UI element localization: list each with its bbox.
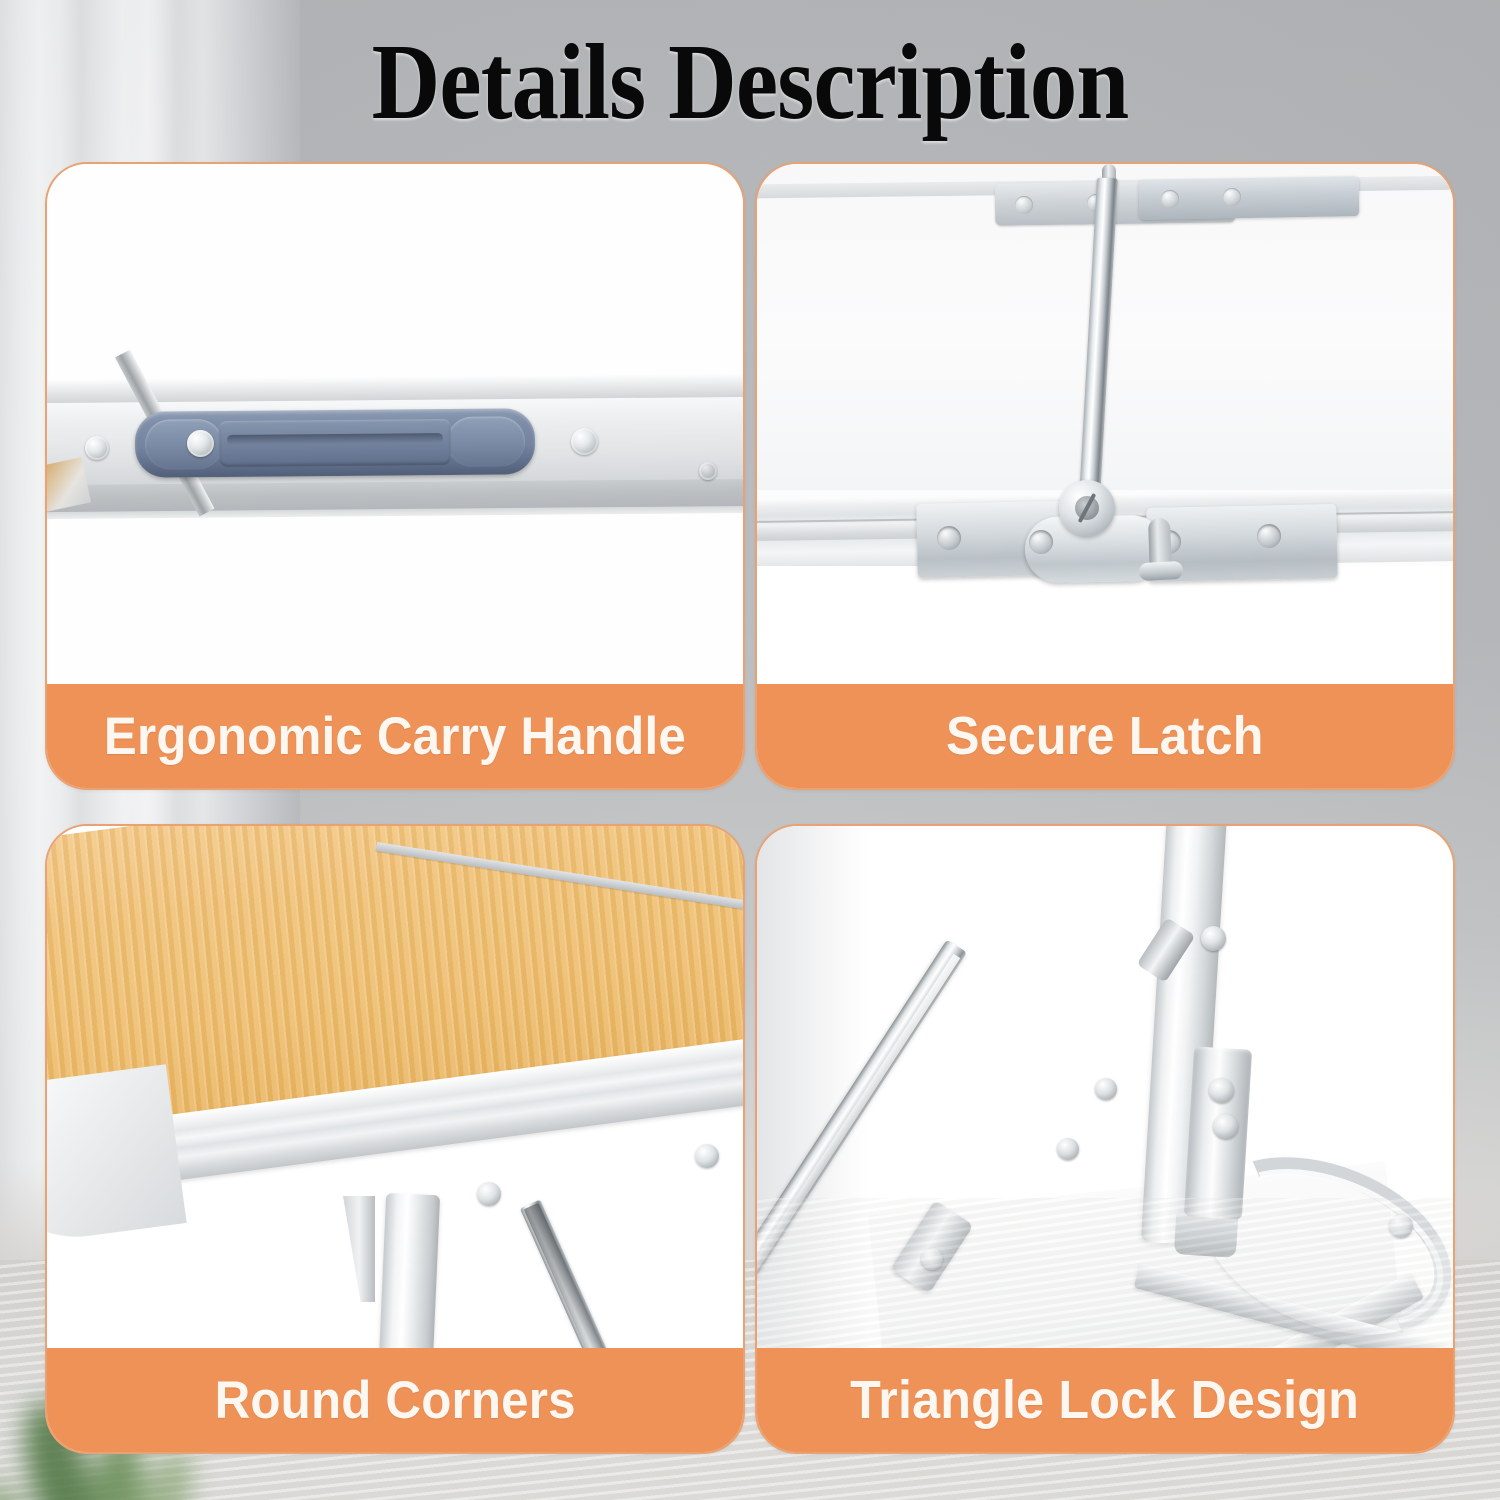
hinge-screw-hole (1015, 196, 1033, 214)
card-caption-label: Round Corners (214, 1370, 575, 1431)
latch-pivot-screw (1059, 480, 1115, 536)
card-caption-label: Secure Latch (946, 705, 1264, 767)
carry-handle-end-right (447, 416, 525, 467)
latch-bolt-hole (937, 526, 961, 550)
latch-bolt-hole (1029, 530, 1053, 554)
latch-bolt-hole (1257, 524, 1281, 548)
feature-card-triangle-lock-design: Triangle Lock Design (755, 824, 1455, 1454)
carry-handle-slot (227, 433, 443, 445)
photo-surface-texture (757, 1198, 1453, 1348)
photo-carry-handle (47, 164, 743, 684)
card-caption-bar: Round Corners (47, 1348, 743, 1452)
brace-screw (1095, 1078, 1117, 1100)
telescoping-leg (368, 1193, 440, 1348)
leg-bracket-screw (1213, 1114, 1238, 1139)
hinge-screw-hole (1223, 188, 1241, 206)
latch-pin-head (1139, 561, 1184, 581)
edge-screw (477, 1182, 501, 1206)
leg-bracket-screw (1201, 926, 1226, 951)
hinge-screw-hole (1161, 190, 1179, 208)
photo-secure-latch (757, 164, 1453, 684)
chrome-folding-brace (520, 1200, 711, 1348)
mounting-screw (571, 428, 598, 455)
mounting-screw (187, 430, 214, 457)
photo-white-area (757, 566, 1453, 684)
feature-card-grid: Ergonomic Carry Handle (45, 162, 1455, 1454)
photo-round-corners (47, 826, 743, 1348)
rounded-corner (47, 1064, 187, 1247)
photo-triangle-lock (757, 826, 1453, 1348)
card-caption-label: Triangle Lock Design (851, 1369, 1360, 1431)
card-caption-bar: Ergonomic Carry Handle (47, 684, 743, 788)
leg-gusset (343, 1196, 375, 1302)
card-caption-bar: Triangle Lock Design (757, 1348, 1453, 1452)
brace-shadow (524, 1203, 604, 1348)
feature-card-round-corners: Round Corners (45, 824, 745, 1454)
card-caption-bar: Secure Latch (757, 684, 1453, 788)
card-caption-label: Ergonomic Carry Handle (104, 706, 686, 767)
brace-screw (1057, 1138, 1079, 1160)
feature-card-secure-latch: Secure Latch (755, 162, 1455, 790)
mounting-screw (85, 436, 109, 460)
edge-screw (695, 1144, 719, 1168)
mounting-screw (699, 462, 717, 480)
feature-card-ergonomic-carry-handle: Ergonomic Carry Handle (45, 162, 745, 790)
leg-bracket-screw (1209, 1078, 1234, 1103)
page-title: Details Description (90, 26, 1410, 139)
